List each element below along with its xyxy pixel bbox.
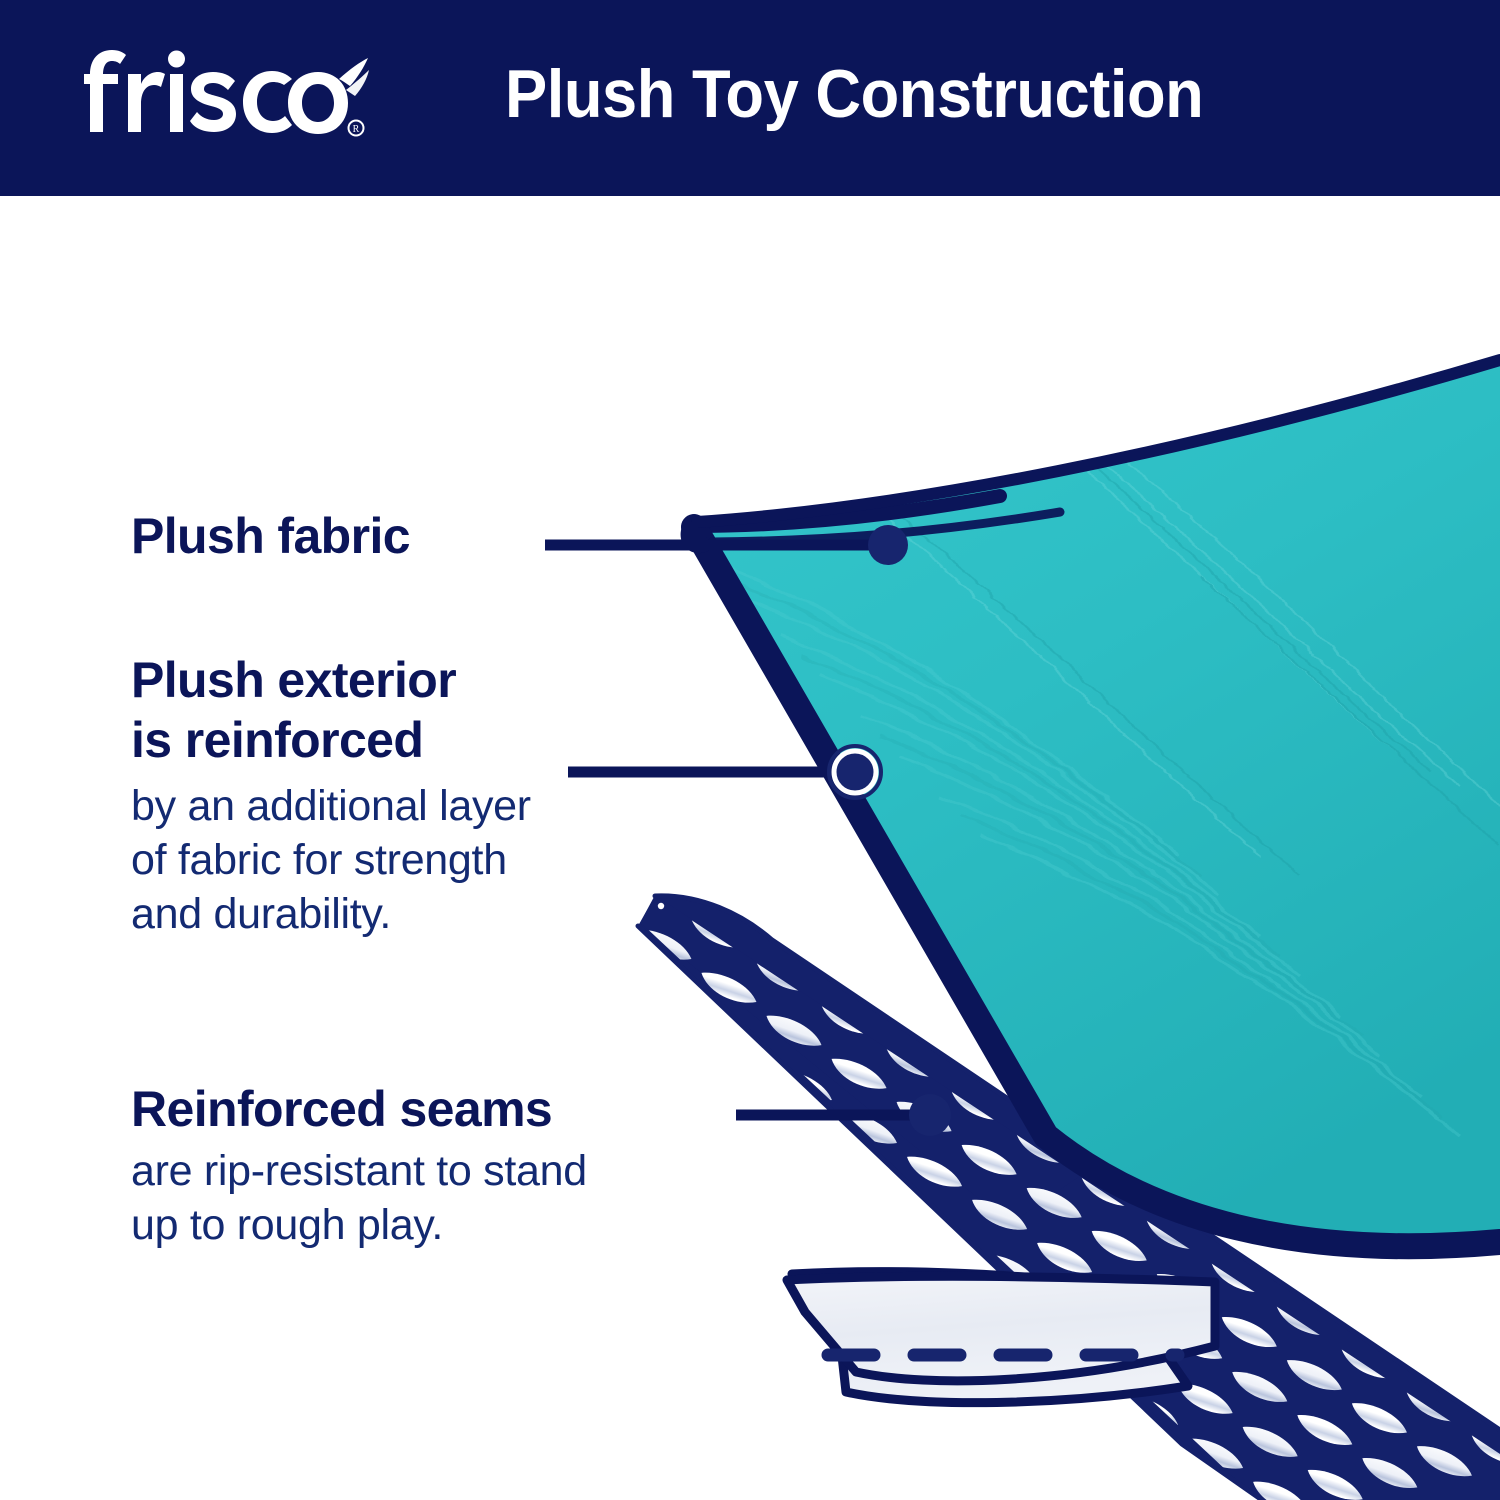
infographic-canvas: R Plush Toy Construction bbox=[0, 0, 1500, 1500]
header-bar: R Plush Toy Construction bbox=[0, 0, 1500, 196]
callout-heading-line-2: is reinforced bbox=[131, 710, 531, 770]
callout-heading: Reinforced seams bbox=[131, 1079, 587, 1139]
registered-trademark-icon: R bbox=[349, 121, 364, 136]
frisco-wordmark-logo: R bbox=[84, 48, 384, 140]
callout-body-line: up to rough play. bbox=[131, 1198, 587, 1252]
svg-text:R: R bbox=[353, 124, 360, 135]
callout-dot-solid bbox=[868, 525, 908, 565]
callout-plush-exterior: Plush exterior is reinforced by an addit… bbox=[131, 650, 531, 941]
callout-body-line: by an additional layer bbox=[131, 779, 531, 833]
callout-body-line: and durability. bbox=[131, 887, 531, 941]
leader-plush-exterior bbox=[568, 746, 881, 798]
callout-body: are rip-resistant to stand up to rough p… bbox=[131, 1144, 587, 1252]
callout-reinforced-seams: Reinforced seams are rip-resistant to st… bbox=[131, 1079, 587, 1252]
seam-flap-layer bbox=[786, 1272, 1215, 1403]
callout-heading: Plush fabric bbox=[131, 506, 410, 566]
callout-plush-fabric: Plush fabric bbox=[131, 506, 410, 566]
page-title: Plush Toy Construction bbox=[505, 46, 1203, 142]
callout-heading-line-1: Plush exterior bbox=[131, 650, 531, 710]
callout-dot-solid bbox=[909, 1094, 951, 1136]
plush-fabric-layer bbox=[660, 346, 1500, 1276]
callout-body-line: of fabric for strength bbox=[131, 833, 531, 887]
callout-body-line: are rip-resistant to stand bbox=[131, 1144, 587, 1198]
callout-body: by an additional layer of fabric for str… bbox=[131, 779, 531, 941]
